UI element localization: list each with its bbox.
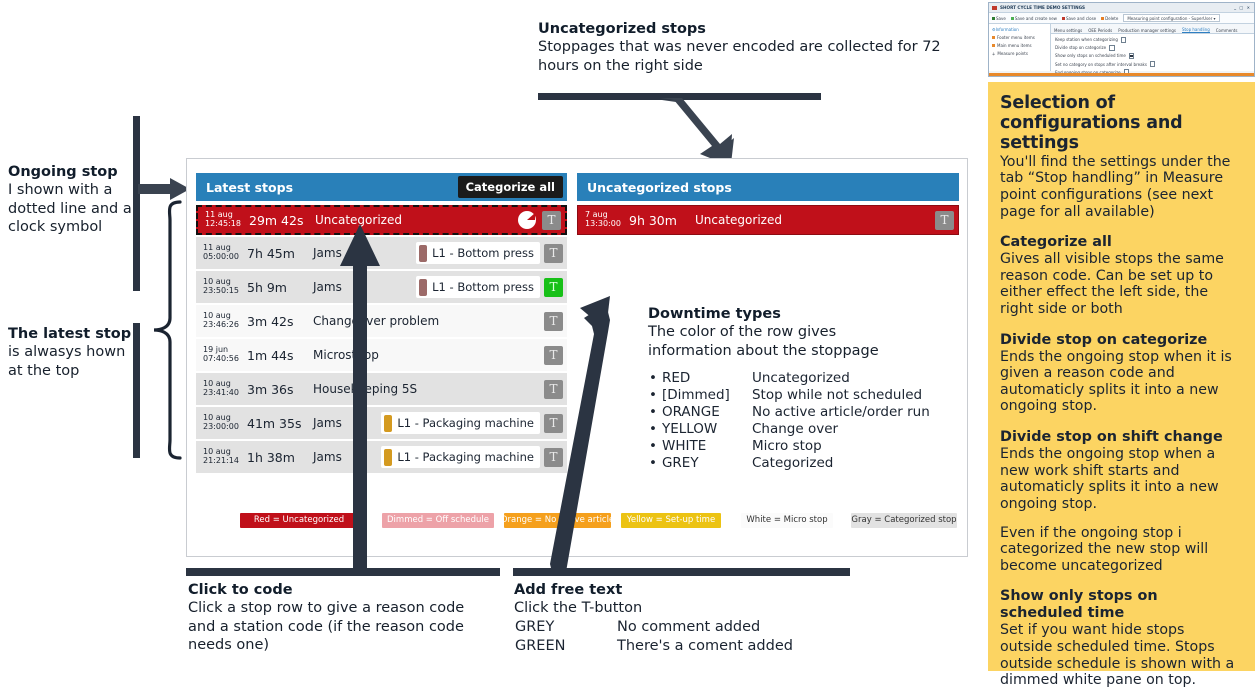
window-controls[interactable]: _ □ ✕ xyxy=(1234,5,1251,10)
sidebar-section-heading: Show only stops on scheduled time xyxy=(1000,588,1241,622)
station-color-swatch xyxy=(384,415,392,432)
sidebar-section-heading: Categorize all xyxy=(1000,234,1241,251)
station-label: L1 - Bottom press xyxy=(432,280,534,294)
list-item: GREENThere's a coment added xyxy=(514,637,794,657)
uncategorized-stops-header: Uncategorized stops xyxy=(577,173,959,201)
latest-stops-title: Latest stops xyxy=(206,180,293,195)
legend-badge: White = Micro stop xyxy=(741,513,833,528)
row-duration: 3m 36s xyxy=(247,382,307,397)
annotation-heading: Click to code xyxy=(188,581,488,599)
sidebar-item-measure-points[interactable]: ⚶Measure points xyxy=(992,51,1047,56)
annotation-heading: The latest stop xyxy=(8,325,133,343)
row-time: 05:00:00 xyxy=(203,253,247,262)
chevron-down-icon: ▾ xyxy=(1214,16,1216,21)
row-duration: 9h 30m xyxy=(629,213,689,228)
save-button[interactable]: Save xyxy=(992,16,1006,21)
sidebar-item-footer-menu-items[interactable]: Footer menu items xyxy=(992,35,1047,40)
tab-stop-handling[interactable]: Stop handling xyxy=(1182,27,1210,33)
tbutton-color: GREY xyxy=(514,618,616,638)
downtime-meaning: Micro stop xyxy=(751,438,931,455)
mini-tabs: Menu settings OEE Periods Production man… xyxy=(1051,24,1254,34)
checkbox-icon[interactable] xyxy=(1150,61,1156,67)
annotation-ongoing-stop: Ongoing stop I shown with a dotted line … xyxy=(8,163,133,236)
tab-comments[interactable]: Comments xyxy=(1216,28,1238,33)
station-label: L1 - Packaging machine xyxy=(397,450,534,464)
checkbox-icon[interactable] xyxy=(1121,37,1127,43)
station-color-swatch xyxy=(419,245,427,262)
row-timestamp: 10 aug 21:21:14 xyxy=(200,448,247,466)
list-item: GREYNo comment added xyxy=(514,618,794,638)
settings-window-thumbnail: SHORT CYCLE TIME DEMO SETTINGS _ □ ✕ Sav… xyxy=(988,2,1255,77)
row-duration: 29m 42s xyxy=(249,213,309,228)
annotation-latest-stop: The latest stop is alwasys hown at the t… xyxy=(8,325,133,380)
downtime-color: ORANGE xyxy=(661,404,751,421)
annotation-heading: Add free text xyxy=(514,581,844,599)
sidebar-section-body: Even if the ongoing stop i categorized t… xyxy=(1000,525,1241,575)
legend-badge: Dimmed = Off schedule xyxy=(382,513,494,528)
save-and-create-new-button[interactable]: Save and create new xyxy=(1011,16,1057,21)
mini-titlebar: SHORT CYCLE TIME DEMO SETTINGS _ □ ✕ xyxy=(989,3,1254,13)
row-time: 23:00:00 xyxy=(203,423,247,432)
row-timestamp: 19 jun 07:40:56 xyxy=(200,346,247,364)
free-text-button[interactable]: T xyxy=(935,211,954,230)
row-duration: 41m 35s xyxy=(247,416,307,431)
station-color-swatch xyxy=(419,279,427,296)
tbutton-meaning: There's a coment added xyxy=(616,637,794,657)
row-timestamp: 10 aug 23:46:26 xyxy=(200,312,247,330)
downtime-color: RED xyxy=(661,370,751,387)
sidebar-title: Selection of configurations and settings xyxy=(1000,94,1241,154)
downtime-color: [Dimmed] xyxy=(661,387,751,404)
annotation-body: Click the T-button xyxy=(514,599,844,617)
option-set-no-category-after-interval-breaks[interactable]: Set no category on stops after interval … xyxy=(1055,61,1250,67)
annotation-heading: Uncategorized stops xyxy=(538,20,958,38)
station-label: L1 - Bottom press xyxy=(432,246,534,260)
annotation-uncategorized-stops: Uncategorized stops Stoppages that was n… xyxy=(538,20,958,75)
window-icon xyxy=(992,6,997,10)
mini-ribbon: Save Save and create new Save and close … xyxy=(989,13,1254,24)
downtime-types-list: •REDUncategorized •[Dimmed]Stop while no… xyxy=(648,370,931,473)
row-duration: 1m 44s xyxy=(247,348,307,363)
annotation-body: is alwasys hown at the top xyxy=(8,343,133,380)
row-station[interactable]: L1 - Bottom press xyxy=(416,242,540,264)
free-text-color-list: GREYNo comment added GREENThere's a come… xyxy=(514,618,794,657)
annotation-add-free-text: Add free text Click the T-button GREYNo … xyxy=(514,581,844,657)
downtime-color: YELLOW xyxy=(661,421,751,438)
downtime-meaning: Categorized xyxy=(751,455,931,472)
arrow-add-free-text xyxy=(540,286,610,572)
station-label: L1 - Packaging machine xyxy=(397,416,534,430)
row-duration: 1h 38m xyxy=(247,450,307,465)
tab-production-manager-settings[interactable]: Production manager settings xyxy=(1118,28,1176,33)
downtime-meaning: No active article/order run xyxy=(751,404,931,421)
downtime-meaning: Stop while not scheduled xyxy=(751,387,931,404)
downtime-meaning: Uncategorized xyxy=(751,370,931,387)
square-icon xyxy=(992,44,995,47)
free-text-button[interactable]: T xyxy=(542,211,561,230)
list-item: •[Dimmed]Stop while not scheduled xyxy=(648,387,931,404)
connector-bar-latest xyxy=(133,323,140,458)
sidebar-section-body: Ends the ongoing stop when a new work sh… xyxy=(1000,446,1241,512)
row-timestamp: 7 aug 13:30:00 xyxy=(582,211,629,229)
list-item: •WHITEMicro stop xyxy=(648,438,931,455)
tbutton-meaning: No comment added xyxy=(616,618,794,638)
row-time: 23:50:15 xyxy=(203,287,247,296)
row-timestamp: 11 aug 05:00:00 xyxy=(200,244,247,262)
nav-header[interactable]: ⚙Information xyxy=(992,27,1047,32)
mini-nav-column: ⚙Information Footer menu items Main menu… xyxy=(989,24,1051,71)
latest-stops-header: Latest stops Categorize all xyxy=(196,173,567,201)
row-duration: 5h 9m xyxy=(247,280,307,295)
option-show-only-stops-on-scheduled-time[interactable]: Show only stops on scheduled time xyxy=(1055,53,1250,59)
sidebar-section-body: Ends the ongoing stop when it is given a… xyxy=(1000,349,1241,415)
categorize-all-button[interactable]: Categorize all xyxy=(458,176,563,198)
table-row[interactable]: 7 aug 13:30:00 9h 30m Uncategorized T xyxy=(577,205,959,235)
annotation-downtime-types: Downtime types The color of the row give… xyxy=(648,305,978,472)
row-station[interactable]: L1 - Bottom press xyxy=(416,276,540,298)
connector-bar-ongoing xyxy=(133,116,140,291)
arrow-to-ongoing-stop-row xyxy=(138,178,190,200)
row-timestamp: 10 aug 23:41:40 xyxy=(200,380,247,398)
square-icon xyxy=(992,36,995,39)
annotation-body: Stoppages that was never encoded are col… xyxy=(538,38,958,75)
row-time: 07:40:56 xyxy=(203,355,247,364)
downtime-color: GREY xyxy=(661,455,751,472)
checkbox-checked-icon[interactable] xyxy=(1129,53,1135,59)
row-duration: 3m 42s xyxy=(247,314,307,329)
sidebar-section-body: Set if you want hide stops outside sched… xyxy=(1000,622,1241,688)
accent-stripe xyxy=(989,73,1254,76)
uncategorized-stops-rows: 7 aug 13:30:00 9h 30m Uncategorized T xyxy=(577,205,959,235)
list-item: •YELLOWChange over xyxy=(648,421,931,438)
legend-badge: Gray = Categorized stop xyxy=(851,513,957,528)
configuration-dropdown[interactable]: Measuring point configuration - SuperUse… xyxy=(1123,14,1219,22)
free-text-button[interactable]: T xyxy=(544,244,563,263)
list-item: •REDUncategorized xyxy=(648,370,931,387)
list-item: •ORANGENo active article/order run xyxy=(648,404,931,421)
row-timestamp: 10 aug 23:00:00 xyxy=(200,414,247,432)
row-time: 21:21:14 xyxy=(203,457,247,466)
tbutton-color: GREEN xyxy=(514,637,616,657)
row-station[interactable]: L1 - Packaging machine xyxy=(381,446,540,468)
list-item: •GREYCategorized xyxy=(648,455,931,472)
annotation-heading: Downtime types xyxy=(648,305,978,323)
sidebar-intro: You'll find the settings under the tab “… xyxy=(1000,154,1241,220)
annotation-click-to-code: Click to code Click a stop row to give a… xyxy=(188,581,488,654)
sidebar-section-heading: Divide stop on categorize xyxy=(1000,332,1241,349)
annotation-body: The color of the row gives information a… xyxy=(648,323,898,360)
annotation-body: I shown with a dotted line and a clock s… xyxy=(8,181,133,236)
mini-options-column: Menu settings OEE Periods Production man… xyxy=(1051,24,1254,71)
annotation-heading: Ongoing stop xyxy=(8,163,133,181)
row-timestamp: 10 aug 23:50:15 xyxy=(200,278,247,296)
downtime-meaning: Change over xyxy=(751,421,931,438)
row-time: 23:41:40 xyxy=(203,389,247,398)
brace-stop-rows xyxy=(150,200,184,460)
downtime-color: WHITE xyxy=(661,438,751,455)
uncategorized-stops-title: Uncategorized stops xyxy=(587,180,732,195)
station-color-swatch xyxy=(384,449,392,466)
row-time: 23:46:26 xyxy=(203,321,247,330)
arrow-click-to-code xyxy=(336,224,382,570)
row-reason: Uncategorized xyxy=(689,213,935,227)
tab-menu-settings[interactable]: Menu settings xyxy=(1054,28,1082,33)
row-timestamp: 11 aug 12:45:18 xyxy=(202,211,249,229)
row-time: 13:30:00 xyxy=(585,220,629,229)
sidebar-item-main-menu-items[interactable]: Main menu items xyxy=(992,43,1047,48)
option-keep-station-when-categorizing[interactable]: Keep station when categorizing xyxy=(1055,37,1250,43)
save-and-close-button[interactable]: Save and close xyxy=(1062,16,1096,21)
legend-badge: Yellow = Set-up time xyxy=(621,513,721,528)
row-time: 12:45:18 xyxy=(205,220,249,229)
row-station[interactable]: L1 - Packaging machine xyxy=(381,412,540,434)
row-duration: 7h 45m xyxy=(247,246,307,261)
info-sidebar: Selection of configurations and settings… xyxy=(988,82,1255,671)
wrench-icon: ⚶ xyxy=(992,51,995,56)
checkbox-icon[interactable] xyxy=(1109,45,1115,51)
annotation-body: Click a stop row to give a reason code a… xyxy=(188,599,488,654)
mini-window-title: SHORT CYCLE TIME DEMO SETTINGS xyxy=(1000,5,1085,10)
option-divide-stop-on-categorize[interactable]: Divide stop on categorize xyxy=(1055,45,1250,51)
sidebar-section-heading: Divide stop on shift change xyxy=(1000,429,1241,446)
tab-oee-periods[interactable]: OEE Periods xyxy=(1088,28,1112,33)
clock-icon xyxy=(518,211,536,229)
mini-body: ⚙Information Footer menu items Main menu… xyxy=(989,24,1254,71)
delete-button[interactable]: Delete xyxy=(1101,16,1118,21)
sidebar-section-body: Gives all visible stops the same reason … xyxy=(1000,251,1241,317)
